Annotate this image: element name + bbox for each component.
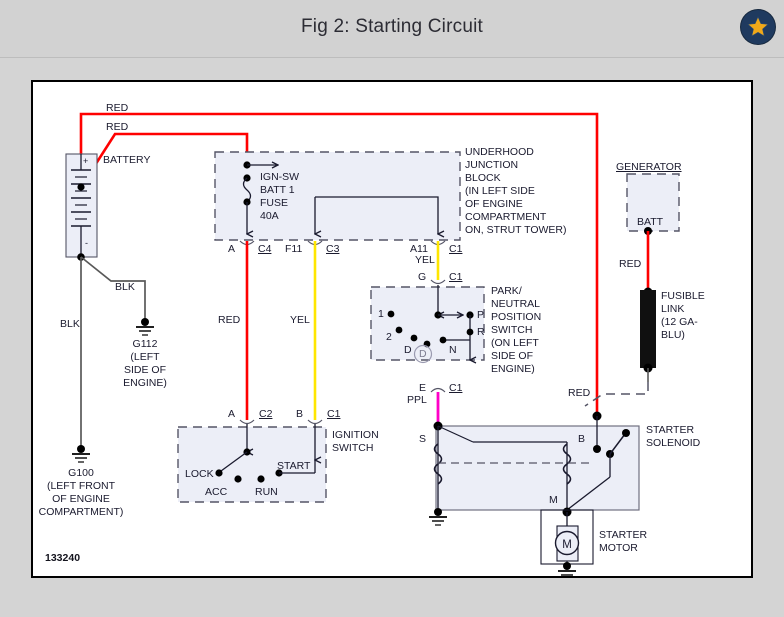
junction-block-name-2: JUNCTION bbox=[465, 159, 518, 171]
ignition-switch-name-2: SWITCH bbox=[332, 442, 373, 454]
wire-label-ppl: PPL bbox=[407, 394, 427, 406]
fuse-line-fuse: FUSE bbox=[260, 197, 288, 209]
pnp-contact-d: D bbox=[404, 344, 412, 356]
underhood-junction-block bbox=[215, 152, 460, 240]
ground-id-g100: G100 bbox=[31, 467, 131, 479]
ign-position-acc: ACC bbox=[205, 486, 227, 498]
ground-g112-loc-1: (LEFT bbox=[105, 351, 185, 363]
pnp-name-2: NEUTRAL bbox=[491, 298, 540, 310]
connector-pin-f11: F11 bbox=[285, 243, 302, 255]
battery-positive-terminal: + bbox=[83, 155, 88, 167]
ign-position-lock: LOCK bbox=[185, 468, 214, 480]
fuse-line-rating: 40A bbox=[260, 210, 279, 222]
pnp-contact-n: N bbox=[449, 344, 457, 356]
fusible-link-name-4: BLU) bbox=[661, 329, 685, 341]
connector-pin-a: A bbox=[228, 243, 235, 255]
generator bbox=[627, 174, 679, 289]
fuse-line-ign-sw: IGN-SW bbox=[260, 171, 299, 183]
starter-motor-name-1: STARTER bbox=[599, 529, 647, 541]
junction-block-name-4: (IN LEFT SIDE bbox=[465, 185, 535, 197]
ground-symbol-g112 bbox=[136, 318, 154, 335]
battery-label: BATTERY bbox=[103, 154, 150, 166]
wire-label-red-sol: RED bbox=[568, 387, 590, 399]
ground-g100-loc-2: OF ENGINE bbox=[31, 493, 141, 505]
pnp-top-conn: C1 bbox=[449, 271, 462, 283]
page-title: Fig 2: Starting Circuit bbox=[0, 16, 784, 38]
wiring-diagram-canvas: M RED RED BLK BLK RED YEL YEL PPL RED RE… bbox=[31, 80, 753, 578]
pnp-name-4: SWITCH bbox=[491, 324, 532, 336]
fusible-link-name-2: LINK bbox=[661, 303, 684, 315]
pnp-name-6: SIDE OF bbox=[491, 350, 533, 362]
wire-label-red-upper: RED bbox=[106, 102, 128, 114]
starter-solenoid-name-2: SOLENOID bbox=[646, 437, 700, 449]
pnp-contact-2: 2 bbox=[386, 331, 392, 343]
junction-block-name-5: OF ENGINE bbox=[465, 198, 523, 210]
starter-solenoid-name-1: STARTER bbox=[646, 424, 694, 436]
figure-number: 133240 bbox=[45, 552, 80, 564]
ignition-switch-name-1: IGNITION bbox=[332, 429, 379, 441]
junction-block-name-1: UNDERHOOD bbox=[465, 146, 534, 158]
ground-g112-loc-3: ENGINE) bbox=[105, 377, 185, 389]
pnp-name-3: POSITION bbox=[491, 311, 541, 323]
generator-label: GENERATOR bbox=[616, 161, 682, 173]
connector-id-c3: C3 bbox=[326, 243, 339, 255]
ground-g100-loc-3: COMPARTMENT) bbox=[31, 506, 143, 518]
connector-id-c1-jb: C1 bbox=[449, 243, 462, 255]
pnp-bottom-conn: C1 bbox=[449, 382, 462, 394]
pnp-contact-r: R bbox=[477, 326, 485, 338]
battery-symbol bbox=[66, 154, 97, 261]
starter-motor: M bbox=[541, 510, 593, 575]
ign-pin-a: A bbox=[228, 408, 235, 420]
ign-conn-c2: C2 bbox=[259, 408, 272, 420]
star-icon[interactable] bbox=[741, 10, 775, 44]
ground-symbol-g100 bbox=[72, 445, 90, 462]
junction-block-name-6: COMPARTMENT bbox=[465, 211, 546, 223]
star-glyph bbox=[747, 16, 769, 38]
wire-label-yel-pnp: YEL bbox=[415, 254, 435, 266]
solenoid-terminal-s: S bbox=[419, 433, 426, 445]
motor-symbol-letter: M bbox=[562, 539, 572, 551]
wire-label-blk-g112: BLK bbox=[115, 281, 135, 293]
ign-conn-c1: C1 bbox=[327, 408, 340, 420]
fusible-link bbox=[585, 288, 656, 407]
pnp-top-pin: G bbox=[418, 271, 426, 283]
pnp-contact-1: 1 bbox=[378, 308, 384, 320]
pnp-contact-p: P bbox=[477, 309, 484, 321]
ground-g100-loc-1: (LEFT FRONT bbox=[31, 480, 141, 492]
wire-label-red-gen: RED bbox=[619, 258, 641, 270]
pnp-name-5: (ON LEFT bbox=[491, 337, 539, 349]
solenoid-terminal-b: B bbox=[578, 433, 585, 445]
battery-negative-terminal: - bbox=[85, 237, 88, 249]
fusible-link-name-3: (12 GA- bbox=[661, 316, 698, 328]
generator-terminal-batt: BATT bbox=[637, 216, 663, 228]
pnp-drive-indicator: D bbox=[419, 348, 427, 360]
ground-g112-loc-2: SIDE OF bbox=[105, 364, 185, 376]
junction-block-name-3: BLOCK bbox=[465, 172, 501, 184]
window-title-bar: Fig 2: Starting Circuit bbox=[0, 0, 784, 58]
starter-solenoid bbox=[429, 412, 639, 526]
fusible-link-name-1: FUSIBLE bbox=[661, 290, 705, 302]
wire-label-blk-g100: BLK bbox=[60, 318, 80, 330]
wire-label-yel-ign: YEL bbox=[290, 314, 310, 326]
wire-label-red-lower: RED bbox=[106, 121, 128, 133]
ign-position-run: RUN bbox=[255, 486, 278, 498]
junction-block-name-7: ON, STRUT TOWER) bbox=[465, 224, 567, 236]
starter-motor-name-2: MOTOR bbox=[599, 542, 638, 554]
ign-pin-b: B bbox=[296, 408, 303, 420]
pnp-name-1: PARK/ bbox=[491, 285, 522, 297]
connector-id-c4: C4 bbox=[258, 243, 271, 255]
fuse-line-batt-1: BATT 1 bbox=[260, 184, 295, 196]
pnp-bottom-pin: E bbox=[419, 382, 426, 394]
wire-label-red-ign: RED bbox=[218, 314, 240, 326]
solenoid-terminal-m: M bbox=[549, 494, 558, 506]
ign-position-start: START bbox=[277, 460, 310, 472]
connector-pin-a11: A11 bbox=[410, 243, 428, 255]
ground-id-g112: G112 bbox=[105, 338, 185, 350]
pnp-name-7: ENGINE) bbox=[491, 363, 535, 375]
